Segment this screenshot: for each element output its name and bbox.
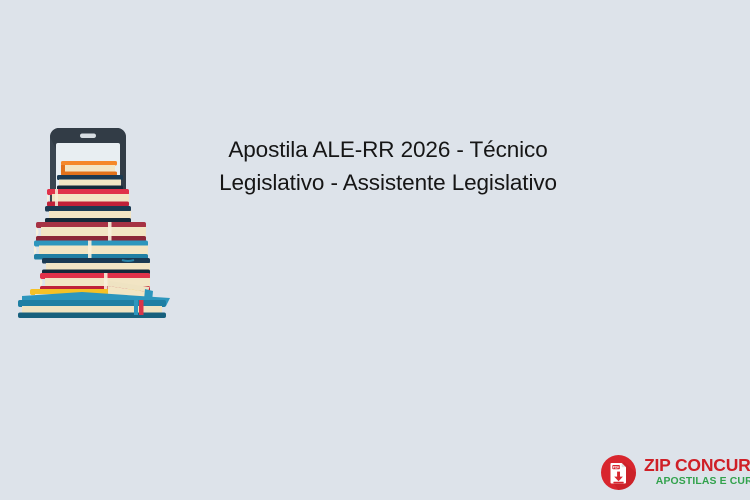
brand-name: ZIP CONCURSOS bbox=[644, 457, 750, 475]
book-layer-navy-mid bbox=[45, 206, 131, 223]
brand-logo[interactable]: PDF ZIP CONCURSOS APOSTILAS E CURSOS bbox=[600, 451, 744, 493]
bookmark-red bbox=[139, 300, 144, 315]
bookmark-blue bbox=[134, 300, 138, 315]
brand-tagline: APOSTILAS E CURSOS bbox=[644, 477, 750, 487]
book-layer-navy-upper bbox=[57, 175, 123, 190]
brand-wordmark: ZIP CONCURSOS APOSTILAS E CURSOS bbox=[644, 457, 750, 488]
page-title: Apostila ALE-RR 2026 - Técnico Legislati… bbox=[186, 133, 590, 199]
book-layer-teal-mid bbox=[34, 241, 148, 260]
book-layer-red-upper bbox=[47, 189, 129, 207]
book-layer-orange-top bbox=[61, 161, 117, 176]
book-stack-illustration bbox=[12, 126, 172, 318]
pdf-download-icon: PDF bbox=[600, 454, 637, 491]
book-layer-maroon bbox=[36, 222, 146, 242]
svg-text:PDF: PDF bbox=[613, 465, 620, 469]
book-layer-navy-lower bbox=[42, 258, 150, 275]
